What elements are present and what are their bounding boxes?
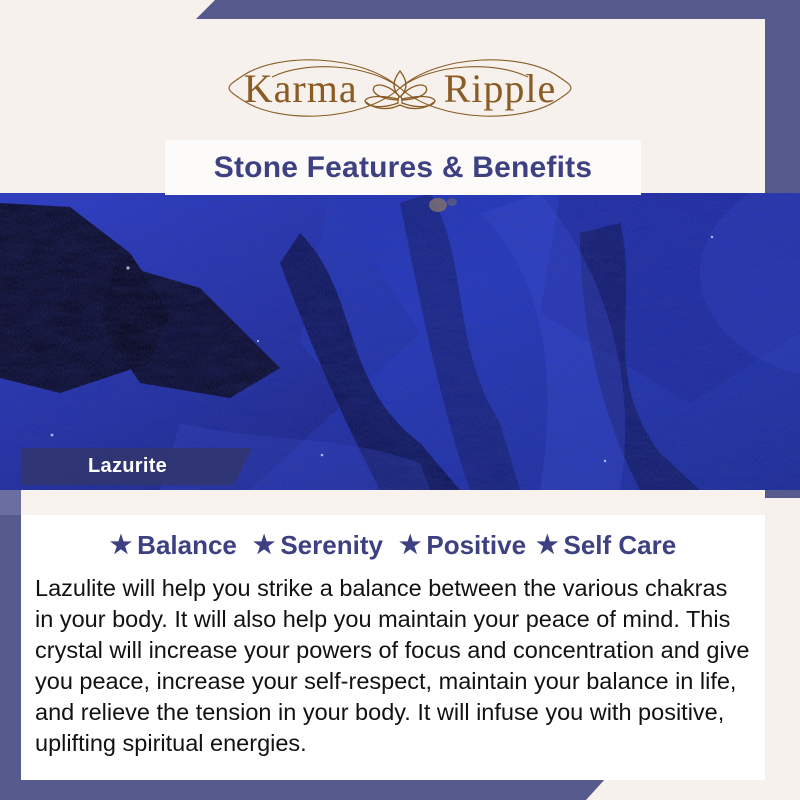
- top-accent-bar: [0, 0, 800, 19]
- card-top-strip: [21, 490, 765, 515]
- benefit-keyword-label: Serenity: [280, 530, 383, 561]
- section-title-panel: Stone Features & Benefits: [165, 140, 641, 195]
- lazurite-stone-image: [0, 193, 800, 490]
- benefit-keyword-positive: ★ Positive: [399, 530, 526, 561]
- logo-flourish-icon: [200, 49, 600, 127]
- benefits-card: ★ Balance ★ Serenity ★ Positive ★ Self C…: [21, 515, 765, 780]
- star-icon: ★: [253, 533, 275, 558]
- star-icon: ★: [536, 533, 558, 558]
- benefit-keywords: ★ Balance ★ Serenity ★ Positive ★ Self C…: [21, 530, 765, 561]
- stone-name-label: Lazurite: [88, 455, 167, 478]
- left-accent-strip: [0, 515, 21, 780]
- stone-photo: Lazurite: [0, 193, 800, 490]
- benefit-keyword-label: Self Care: [564, 530, 677, 561]
- brand-logo: Karma Ripple: [200, 49, 600, 127]
- benefit-keyword-label: Balance: [137, 530, 237, 561]
- left-accent-tab: [0, 489, 21, 515]
- benefits-description: Lazulite will help you strike a balance …: [35, 573, 751, 759]
- brand-header: Karma Ripple: [0, 19, 765, 129]
- benefit-keyword-self-care: ★ Self Care: [536, 530, 676, 561]
- benefit-keyword-balance: ★ Balance: [110, 530, 237, 561]
- benefit-keyword-label: Positive: [426, 530, 526, 561]
- bottom-accent-bar: [0, 778, 800, 800]
- star-icon: ★: [399, 533, 421, 558]
- infographic-page: Karma Ripple: [0, 0, 800, 800]
- page-title: Stone Features & Benefits: [214, 151, 592, 185]
- stone-name-badge: Lazurite: [22, 448, 252, 485]
- benefit-keyword-serenity: ★ Serenity: [253, 530, 383, 561]
- star-icon: ★: [110, 533, 132, 558]
